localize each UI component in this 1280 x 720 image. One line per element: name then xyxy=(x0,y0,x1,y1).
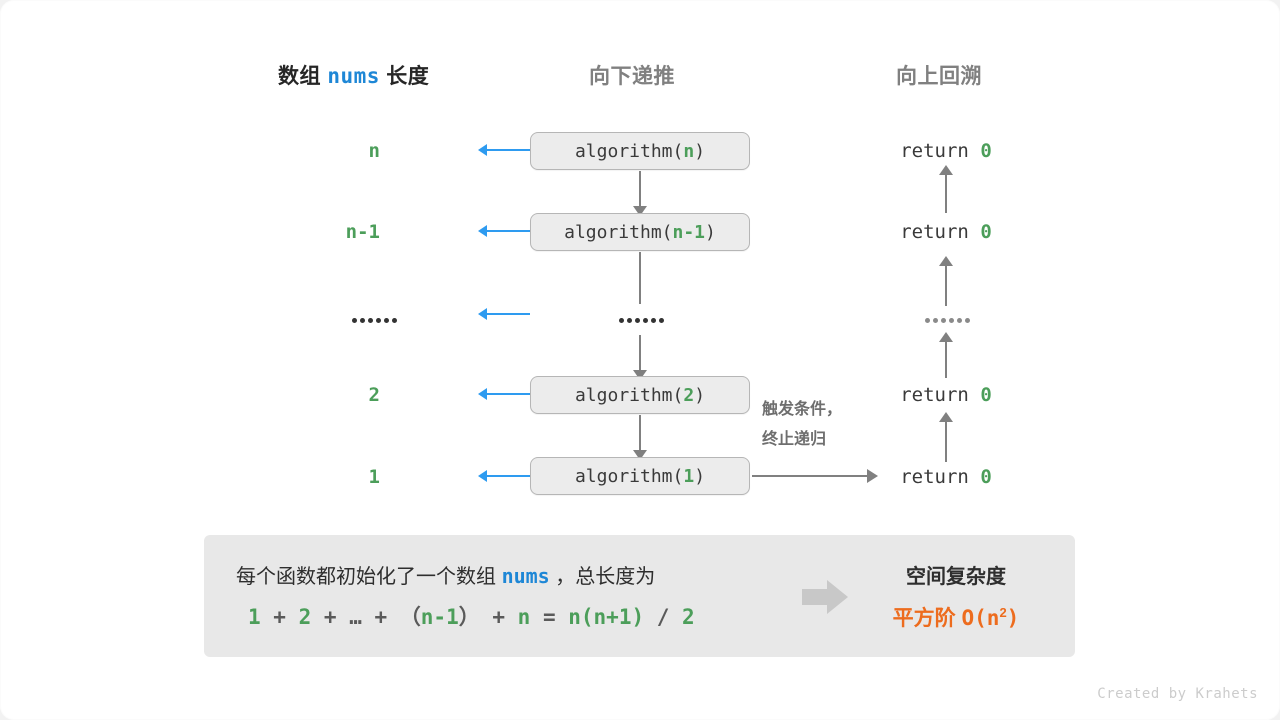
return-value-row-1: 0 xyxy=(980,140,991,162)
up-arrow-1 xyxy=(939,165,953,213)
return-value-row-5: 0 xyxy=(980,466,991,488)
call-box-row-5: algorithm(1) xyxy=(530,457,750,495)
summary-description: 每个函数都初始化了一个数组 nums ，总长度为 xyxy=(236,560,655,589)
call-prefix-row-5: algorithm( xyxy=(575,466,683,487)
ellipsis-return-row xyxy=(925,318,970,323)
call-box-row-2: algorithm(n-1) xyxy=(530,213,750,251)
size-label-row-2: n-1 xyxy=(260,221,380,243)
down-arrow-4 xyxy=(633,415,647,460)
ellipsis-size-row xyxy=(352,318,397,323)
down-arrow-3 xyxy=(633,335,647,380)
column-header-backtrack-up: 向上回溯 xyxy=(896,60,982,90)
formula-o2: + xyxy=(311,605,349,629)
call-suffix-row-1: ) xyxy=(694,141,705,162)
complexity-value: 平方阶 O(n2) xyxy=(866,602,1046,632)
column-header-recurse-down: 向下递推 xyxy=(589,60,675,90)
call-arg-row-4: 2 xyxy=(683,385,694,406)
complexity-value-label: 平方阶 xyxy=(893,607,962,630)
call-box-row-1: algorithm(n) xyxy=(530,132,750,170)
call-prefix-row-2: algorithm( xyxy=(564,222,672,243)
up-arrow-2 xyxy=(939,256,953,306)
blue-arrow-row-3 xyxy=(478,308,530,320)
call-arg-row-2: n-1 xyxy=(673,222,706,243)
formula-o3: + xyxy=(362,605,400,629)
down-arrow-1 xyxy=(633,171,647,216)
complexity-value-mono: O(n xyxy=(962,606,1000,630)
header-left-prefix: 数组 xyxy=(278,65,327,88)
call-arg-row-5: 1 xyxy=(683,466,694,487)
credit-text: Created by Krahets xyxy=(1097,686,1258,702)
formula-t8: n(n+1) xyxy=(568,605,644,629)
summary-desc-nums: nums xyxy=(502,564,550,588)
formula-o6: / xyxy=(644,605,682,629)
formula-t1: 1 xyxy=(248,605,261,629)
complexity-value-exponent: 2 xyxy=(999,605,1006,620)
formula-t7: n xyxy=(518,605,531,629)
call-suffix-row-2: ) xyxy=(705,222,716,243)
size-label-row-4: 2 xyxy=(260,384,380,406)
return-label-row-1: return 0 xyxy=(866,140,1026,162)
column-header-array-length: 数组 nums 长度 xyxy=(278,60,429,90)
return-label-row-2: return 0 xyxy=(866,221,1026,243)
summary-arrow-icon xyxy=(802,580,848,614)
up-arrow-3 xyxy=(939,332,953,378)
header-left-suffix: 长度 xyxy=(380,65,429,88)
formula-t5: n-1 xyxy=(421,605,459,629)
termination-note-line2: 终止递归 xyxy=(762,425,882,455)
return-label-row-5: return 0 xyxy=(866,466,1026,488)
complexity-title: 空间复杂度 xyxy=(866,560,1046,589)
formula-t6: ） xyxy=(459,605,480,629)
formula-t2: 2 xyxy=(299,605,312,629)
summary-desc-post: ，总长度为 xyxy=(550,566,656,588)
call-box-row-4: algorithm(2) xyxy=(530,376,750,414)
return-value-row-2: 0 xyxy=(980,221,991,243)
blue-arrow-row-2 xyxy=(478,225,530,237)
call-suffix-row-4: ) xyxy=(694,385,705,406)
complexity-result: 空间复杂度 平方阶 O(n2) xyxy=(866,560,1046,632)
return-value-row-4: 0 xyxy=(980,384,991,406)
blue-arrow-row-4 xyxy=(478,388,530,400)
size-label-row-1: n xyxy=(260,140,380,162)
call-prefix-row-4: algorithm( xyxy=(575,385,683,406)
return-text-row-2: return xyxy=(900,221,980,243)
return-text-row-4: return xyxy=(900,384,980,406)
formula-t3: … xyxy=(349,605,362,629)
diagram-canvas: 数组 nums 长度 向下递推 向上回溯 n algorithm(n) retu… xyxy=(0,0,1280,720)
call-prefix-row-1: algorithm( xyxy=(575,141,683,162)
blue-arrow-row-5 xyxy=(478,470,530,482)
blue-arrow-row-1 xyxy=(478,144,530,156)
return-text-row-1: return xyxy=(900,140,980,162)
base-case-arrow xyxy=(752,469,878,483)
up-arrow-4 xyxy=(939,412,953,462)
call-suffix-row-5: ) xyxy=(694,466,705,487)
summary-formula: 1 + 2 + … + （n-1） + n = n(n+1) / 2 xyxy=(248,601,695,631)
formula-o4: + xyxy=(480,605,518,629)
termination-note: 触发条件， 终止递归 xyxy=(762,395,882,455)
return-text-row-5: return xyxy=(900,466,980,488)
formula-t4: （ xyxy=(400,605,421,629)
ellipsis-call-row xyxy=(619,318,664,323)
header-left-nums: nums xyxy=(327,64,380,88)
size-label-row-5: 1 xyxy=(260,466,380,488)
complexity-value-tail: ) xyxy=(1007,606,1020,630)
return-label-row-4: return 0 xyxy=(866,384,1026,406)
down-line-2 xyxy=(639,252,641,304)
termination-note-line1: 触发条件， xyxy=(762,395,882,425)
summary-desc-pre: 每个函数都初始化了一个数组 xyxy=(236,566,502,588)
formula-o1: + xyxy=(261,605,299,629)
formula-t9: 2 xyxy=(682,605,695,629)
formula-o5: = xyxy=(530,605,568,629)
call-arg-row-1: n xyxy=(683,141,694,162)
